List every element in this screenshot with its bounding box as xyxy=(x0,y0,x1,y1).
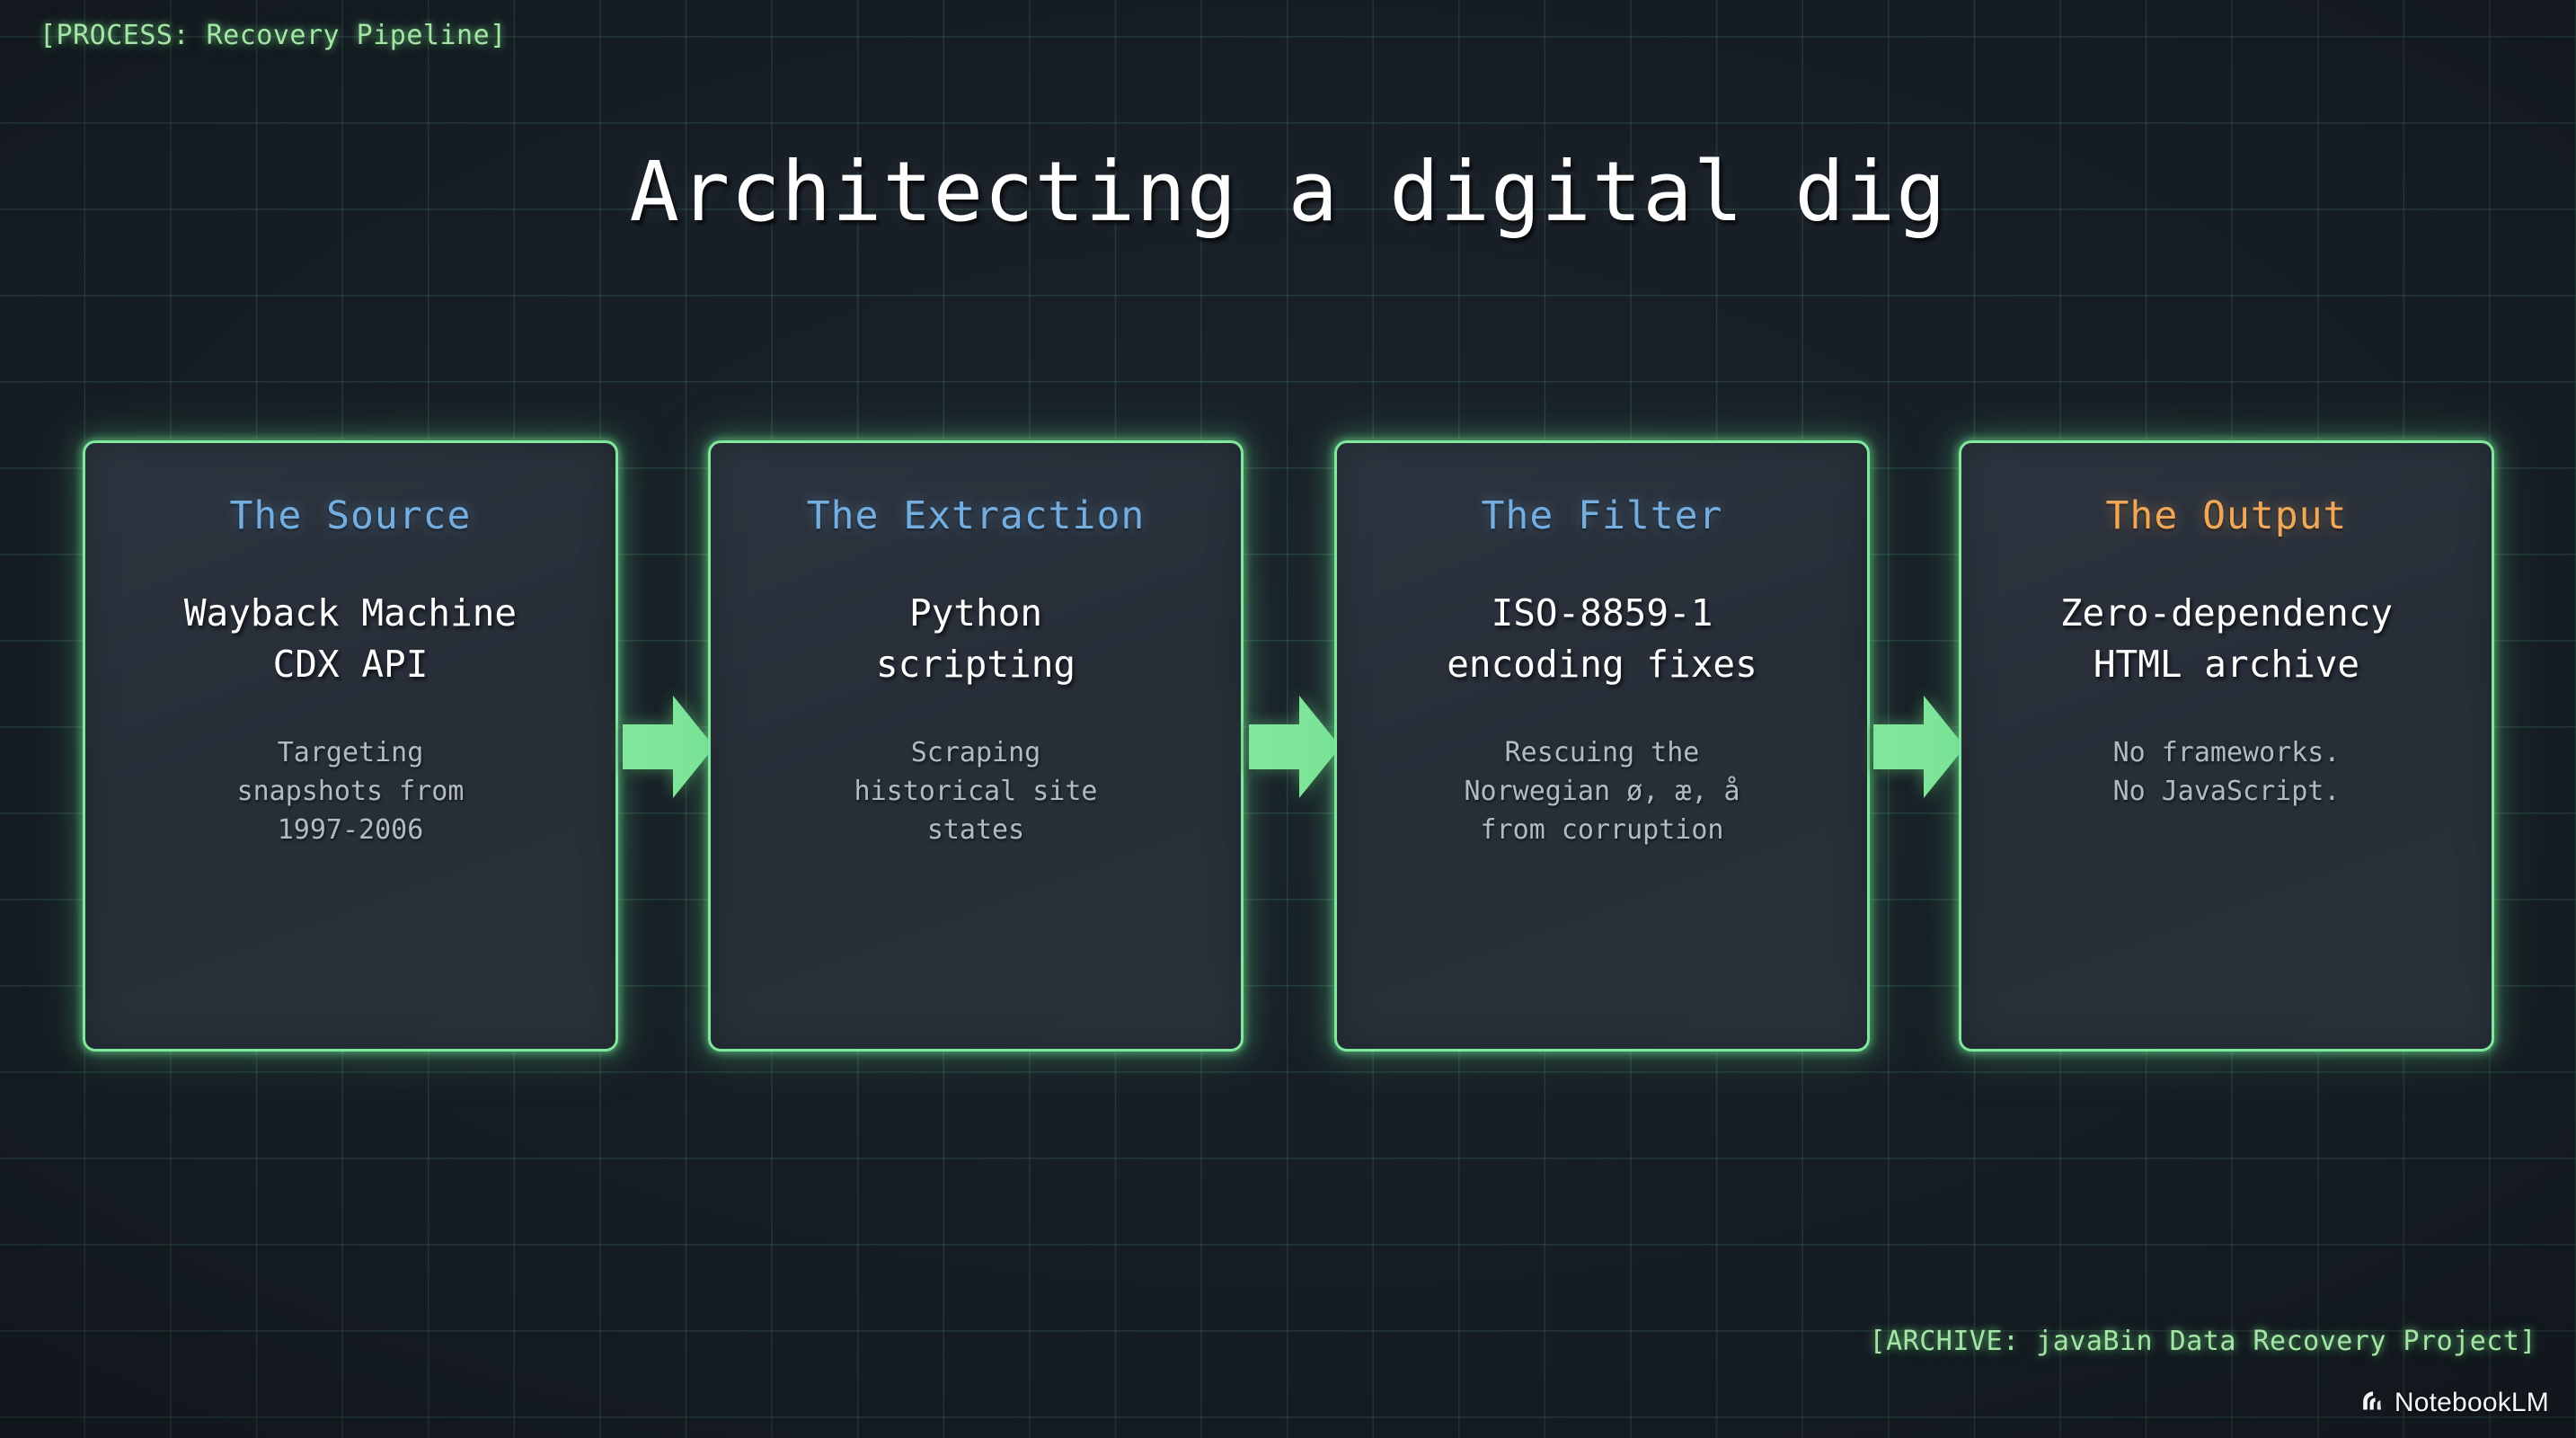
stage-heading-4: The Output xyxy=(2106,495,2348,537)
stage-sub-text-1: Targeting snapshots from 1997-2006 xyxy=(237,734,465,849)
stage-main-text-2: Python scripting xyxy=(876,588,1076,689)
stage-main-text-3: ISO-8859-1 encoding fixes xyxy=(1447,588,1757,689)
stage-main-text-1: Wayback Machine CDX API xyxy=(184,588,517,689)
arrow-right-icon xyxy=(623,694,714,800)
pipeline-stage-card-2[interactable]: The Extraction Python scripting Scraping… xyxy=(708,440,1244,1052)
arrow-right-icon xyxy=(1873,694,1965,800)
notebooklm-watermark: NotebookLM xyxy=(2359,1388,2549,1418)
process-tag-label: [PROCESS: Recovery Pipeline] xyxy=(40,20,507,51)
notebooklm-logo-icon xyxy=(2359,1388,2386,1418)
pipeline-stage-card-4[interactable]: The Output Zero-dependency HTML archive … xyxy=(1959,440,2494,1052)
stage-heading-3: The Filter xyxy=(1482,495,1723,537)
stage-heading-2: The Extraction xyxy=(807,495,1145,537)
stage-heading-1: The Source xyxy=(230,495,472,537)
page-title: Architecting a digital dig xyxy=(0,144,2576,240)
archive-tag-label: [ARCHIVE: javaBin Data Recovery Project] xyxy=(1870,1326,2536,1357)
stage-sub-text-4: No frameworks. No JavaScript. xyxy=(2113,734,2341,811)
pipeline-stage-card-3[interactable]: The Filter ISO-8859-1 encoding fixes Res… xyxy=(1334,440,1870,1052)
pipeline-diagram: The Source Wayback Machine CDX API Targe… xyxy=(83,440,2494,1052)
arrow-right-icon xyxy=(1249,694,1341,800)
stage-main-text-4: Zero-dependency HTML archive xyxy=(2060,588,2393,689)
stage-sub-text-2: Scraping historical site states xyxy=(854,734,1098,849)
notebooklm-watermark-label: NotebookLM xyxy=(2395,1388,2549,1418)
stage-sub-text-3: Rescuing the Norwegian ø, æ, å from corr… xyxy=(1464,734,1739,849)
pipeline-stage-card-1[interactable]: The Source Wayback Machine CDX API Targe… xyxy=(83,440,618,1052)
